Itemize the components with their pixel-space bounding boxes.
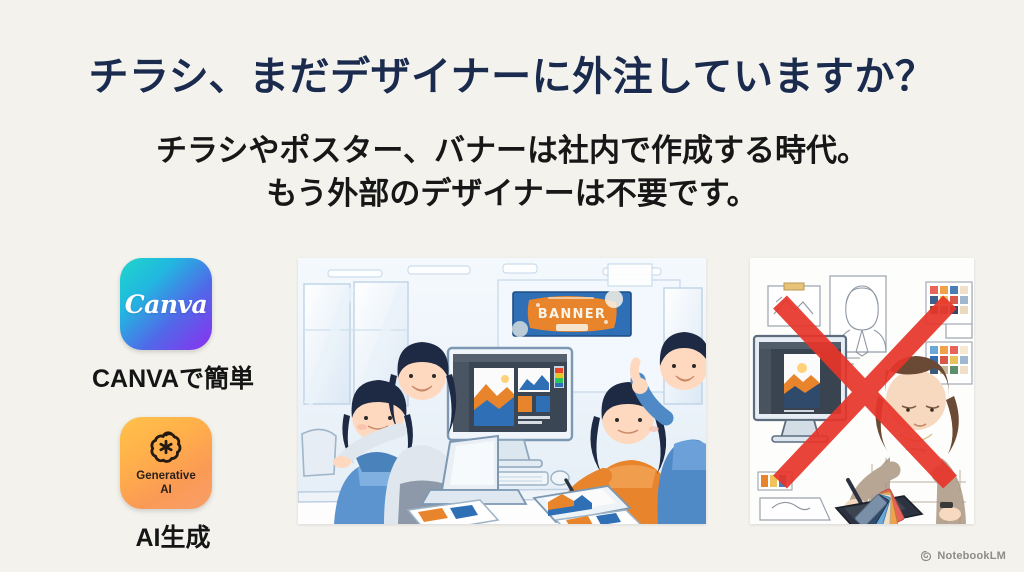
generative-ai-text-line-1: Generative	[136, 470, 195, 482]
canva-logo-icon: Canva	[120, 258, 212, 350]
subtitle: チラシやポスター、バナーは社内で作成する時代。 もう外部のデザイナーは不要です。	[0, 130, 1024, 216]
notebooklm-watermark-text: NotebookLM	[937, 550, 1006, 562]
generative-ai-text-line-2: AI	[160, 484, 172, 496]
banner-text: BANNER	[538, 307, 606, 322]
page-title: チラシ、まだデザイナーに外注していますか？	[0, 44, 1024, 102]
team-illustration-artwork: BANNER	[298, 258, 706, 524]
feature-generative-ai: Generative AI AI生成	[78, 417, 268, 554]
designer-illustration-artwork	[750, 258, 974, 524]
feature-canva: Canva CANVAで簡単	[78, 258, 268, 395]
external-designer-crossed-out-illustration	[750, 258, 974, 524]
notebooklm-watermark: NotebookLM	[920, 550, 1006, 562]
feature-canva-label: CANVAで簡単	[78, 359, 268, 395]
generative-ai-logo-icon: Generative AI	[120, 417, 212, 509]
subtitle-line-2: もう外部のデザイナーは不要です。	[0, 173, 1024, 216]
generative-ai-logo-text: Generative AI	[136, 469, 195, 498]
wall-banner-screen: BANNER	[512, 290, 631, 337]
feature-generative-ai-label: AI生成	[78, 518, 268, 554]
canva-logo-text: Canva	[125, 290, 208, 319]
subtitle-line-1: チラシやポスター、バナーは社内で作成する時代。	[0, 130, 1024, 173]
notebooklm-icon	[920, 550, 932, 562]
feature-list: Canva CANVAで簡単	[78, 258, 268, 572]
openai-knot-glyph	[148, 429, 184, 465]
team-designing-in-office-illustration: BANNER	[298, 258, 706, 524]
slide-canvas: チラシ、まだデザイナーに外注していますか？ チラシやポスター、バナーは社内で作成…	[0, 0, 1024, 572]
